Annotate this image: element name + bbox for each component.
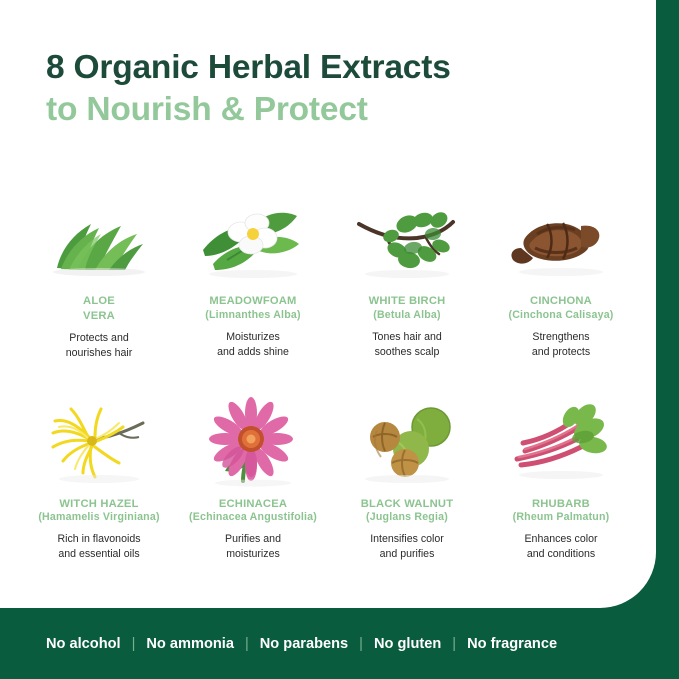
ingredient-description: Intensifies color and purifies — [370, 532, 444, 562]
claims-footer: No alcohol | No ammonia | No parabens | … — [0, 608, 679, 679]
rhubarb-icon — [501, 393, 621, 489]
ingredient-latin-name: (Echinacea Angustifolia) — [189, 511, 317, 525]
ingredient-name: CINCHONA (Cinchona Calisaya) — [508, 294, 613, 323]
claim-no-gluten: No gluten — [374, 636, 441, 652]
ingredient-desc-line2: nourishes hair — [66, 346, 133, 361]
claim-separator: | — [245, 636, 249, 652]
ingredient-name-line1: BLACK WALNUT — [361, 497, 454, 512]
ingredient-desc-line1: Purifies and — [225, 532, 281, 547]
ingredient-name: ECHINACEA (Echinacea Angustifolia) — [189, 497, 317, 526]
ingredient-item: ALOE VERA Protects and nourishes hair — [22, 190, 176, 361]
ingredient-description: Enhances color and conditions — [524, 532, 597, 562]
ingredient-name-line1: CINCHONA — [508, 294, 613, 309]
ingredient-name: MEADOWFOAM (Limnanthes Alba) — [205, 294, 300, 323]
headline-secondary: to Nourish & Protect — [46, 90, 626, 130]
ingredient-description: Moisturizes and adds shine — [217, 330, 289, 360]
black-walnut-icon — [347, 393, 467, 489]
ingredient-desc-line2: moisturizes — [225, 547, 281, 562]
ingredient-name: ALOE VERA — [83, 294, 115, 324]
claim-separator: | — [359, 636, 363, 652]
claim-no-ammonia: No ammonia — [146, 636, 234, 652]
ingredient-latin-name: (Limnanthes Alba) — [205, 309, 300, 323]
ingredient-desc-line2: and purifies — [370, 547, 444, 562]
headline-primary: 8 Organic Herbal Extracts — [46, 48, 626, 88]
claim-separator: | — [132, 636, 136, 652]
ingredient-desc-line1: Intensifies color — [370, 532, 444, 547]
ingredient-desc-line1: Rich in flavonoids — [57, 532, 140, 547]
ingredient-desc-line2: and adds shine — [217, 345, 289, 360]
ingredient-description: Purifies and moisturizes — [225, 532, 281, 562]
ingredient-name-line1: ALOE — [83, 294, 115, 309]
ingredient-item: RHUBARB (Rheum Palmatun) Enhances color … — [484, 393, 638, 563]
ingredient-latin-name: (Hamamelis Virginiana) — [38, 511, 159, 525]
ingredient-name: WITCH HAZEL (Hamamelis Virginiana) — [38, 497, 159, 526]
white-birch-branch-icon — [347, 190, 467, 286]
meadowfoam-flower-icon — [193, 190, 313, 286]
page-title: 8 Organic Herbal Extracts to Nourish & P… — [46, 48, 626, 129]
claim-separator: | — [452, 636, 456, 652]
cinchona-bark-icon — [501, 190, 621, 286]
aloe-vera-icon — [39, 190, 159, 286]
ingredient-item: MEADOWFOAM (Limnanthes Alba) Moisturizes… — [176, 190, 330, 361]
ingredient-desc-line2: and conditions — [524, 547, 597, 562]
ingredient-item: WITCH HAZEL (Hamamelis Virginiana) Rich … — [22, 393, 176, 563]
ingredient-name-line1: ECHINACEA — [189, 497, 317, 512]
ingredient-desc-line1: Moisturizes — [217, 330, 289, 345]
ingredient-description: Tones hair and soothes scalp — [372, 330, 442, 360]
claim-no-fragrance: No fragrance — [467, 636, 557, 652]
ingredient-desc-line2: soothes scalp — [372, 345, 442, 360]
ingredient-desc-line1: Strengthens — [532, 330, 590, 345]
ingredient-name-line2: VERA — [83, 309, 115, 324]
echinacea-flower-icon — [193, 393, 313, 489]
ingredient-name-line1: RHUBARB — [513, 497, 610, 512]
ingredient-item: ECHINACEA (Echinacea Angustifolia) Purif… — [176, 393, 330, 563]
ingredient-grid: ALOE VERA Protects and nourishes hair — [22, 190, 638, 594]
ingredient-description: Strengthens and protects — [532, 330, 590, 360]
ingredient-name-line1: WHITE BIRCH — [369, 294, 446, 309]
ingredient-description: Rich in flavonoids and essential oils — [57, 532, 140, 562]
ingredient-name: WHITE BIRCH (Betula Alba) — [369, 294, 446, 323]
ingredient-latin-name: (Betula Alba) — [369, 309, 446, 323]
ingredient-desc-line2: and essential oils — [57, 547, 140, 562]
ingredient-item: CINCHONA (Cinchona Calisaya) Strengthens… — [484, 190, 638, 361]
ingredient-item: WHITE BIRCH (Betula Alba) Tones hair and… — [330, 190, 484, 361]
content-card: 8 Organic Herbal Extracts to Nourish & P… — [0, 0, 656, 608]
witch-hazel-flower-icon — [39, 393, 159, 489]
ingredient-desc-line1: Protects and — [66, 331, 133, 346]
claim-no-parabens: No parabens — [260, 636, 348, 652]
ingredient-desc-line2: and protects — [532, 345, 590, 360]
claim-no-alcohol: No alcohol — [46, 636, 121, 652]
ingredient-latin-name: (Cinchona Calisaya) — [508, 309, 613, 323]
ingredient-name: RHUBARB (Rheum Palmatun) — [513, 497, 610, 526]
ingredient-item: BLACK WALNUT (Juglans Regia) Intensifies… — [330, 393, 484, 563]
ingredient-name-line1: MEADOWFOAM — [205, 294, 300, 309]
ingredient-description: Protects and nourishes hair — [66, 331, 133, 361]
ingredient-name-line1: WITCH HAZEL — [38, 497, 159, 512]
ingredient-name: BLACK WALNUT (Juglans Regia) — [361, 497, 454, 526]
ingredient-latin-name: (Rheum Palmatun) — [513, 511, 610, 525]
ingredient-desc-line1: Tones hair and — [372, 330, 442, 345]
ingredient-latin-name: (Juglans Regia) — [361, 511, 454, 525]
ingredient-desc-line1: Enhances color — [524, 532, 597, 547]
